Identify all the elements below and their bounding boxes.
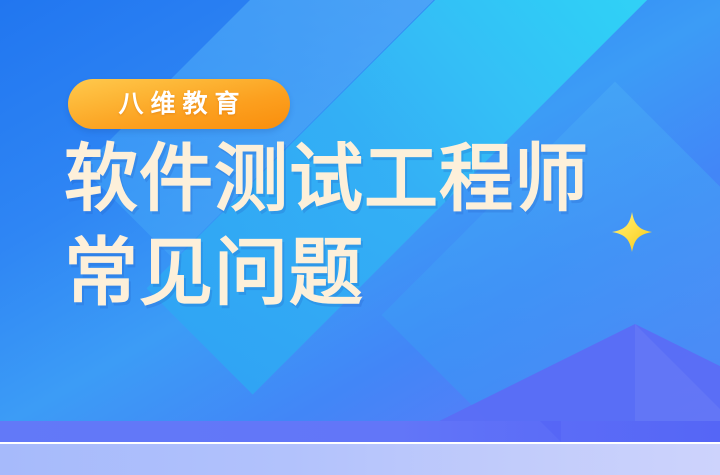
four-point-star-icon (608, 208, 656, 256)
bottom-band-purple (0, 421, 720, 442)
bottom-strip-lavender (0, 444, 720, 475)
promo-poster: 八维教育 软件测试工程师 常见问题 (0, 0, 720, 475)
brand-badge: 八维教育 (68, 79, 290, 129)
brand-badge-label: 八维教育 (111, 92, 246, 117)
headline-line-1: 软件测试工程师 (64, 142, 704, 216)
bottom-band-notch (540, 421, 561, 442)
